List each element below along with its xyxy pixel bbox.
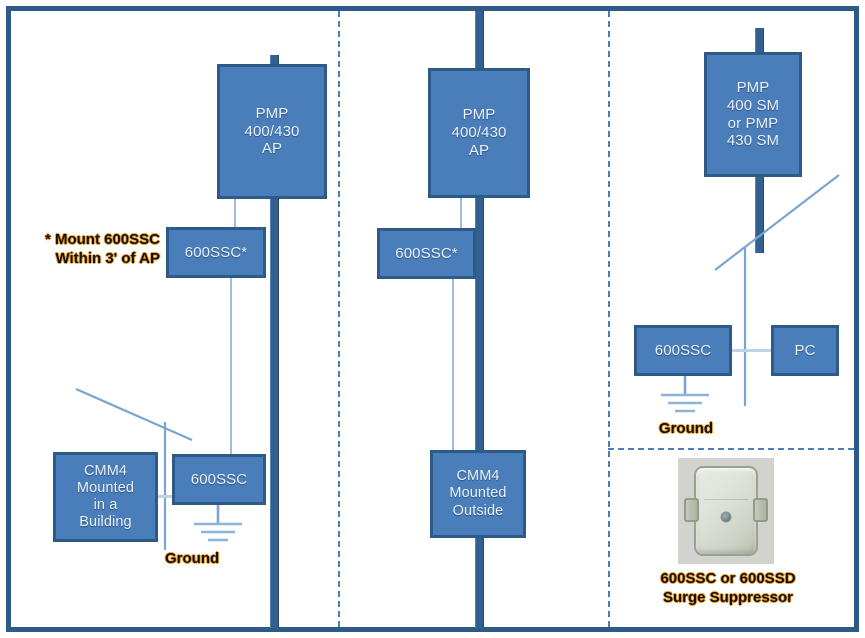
box-600ssc-top-left[interactable]: 600SSC*	[166, 227, 266, 278]
mounting-tab-right-icon	[753, 498, 768, 522]
enclosure-seam-icon	[704, 499, 747, 500]
enclosure-port-icon	[721, 512, 732, 523]
wire-ssc-to-cmm4-middle	[452, 277, 454, 452]
surge-suppressor-enclosure-icon	[694, 466, 758, 556]
box-pmp-sm-right[interactable]: PMP 400 SM or PMP 430 SM	[704, 52, 802, 177]
ground-symbol-right	[645, 374, 725, 422]
divider-legend-top	[608, 448, 854, 450]
box-cmm4-outside[interactable]: CMM4 Mounted Outside	[430, 450, 526, 538]
divider-left-middle	[338, 11, 340, 627]
box-cmm4-building[interactable]: CMM4 Mounted in a Building	[53, 452, 158, 542]
ground-symbol-left	[178, 503, 258, 551]
box-600ssc-top-middle[interactable]: 600SSC*	[377, 228, 476, 279]
box-600ssc-bottom-left[interactable]: 600SSC	[172, 454, 266, 505]
cable-diagonal-left	[60, 375, 235, 455]
ground-label-right: Ground	[634, 420, 738, 439]
divider-middle-right	[608, 11, 610, 627]
box-pmp-ap-middle[interactable]: PMP 400/430 AP	[428, 68, 530, 198]
box-pmp-ap-left[interactable]: PMP 400/430 AP	[217, 64, 327, 199]
legend-caption: 600SSC or 600SSD Surge Suppressor	[614, 570, 842, 608]
surge-suppressor-photo	[678, 458, 774, 564]
box-pc-right[interactable]: PC	[771, 325, 839, 376]
mounting-tab-left-icon	[684, 498, 699, 522]
diagram-canvas: PMP 400/430 AP 600SSC* CMM4 Mounted in a…	[0, 0, 865, 638]
ground-label-left: Ground	[165, 550, 285, 569]
box-600ssc-right[interactable]: 600SSC	[634, 325, 732, 376]
note-mount-600ssc: * Mount 600SSC Within 3' of AP	[8, 231, 160, 269]
cable-diagonal-right	[705, 170, 855, 300]
